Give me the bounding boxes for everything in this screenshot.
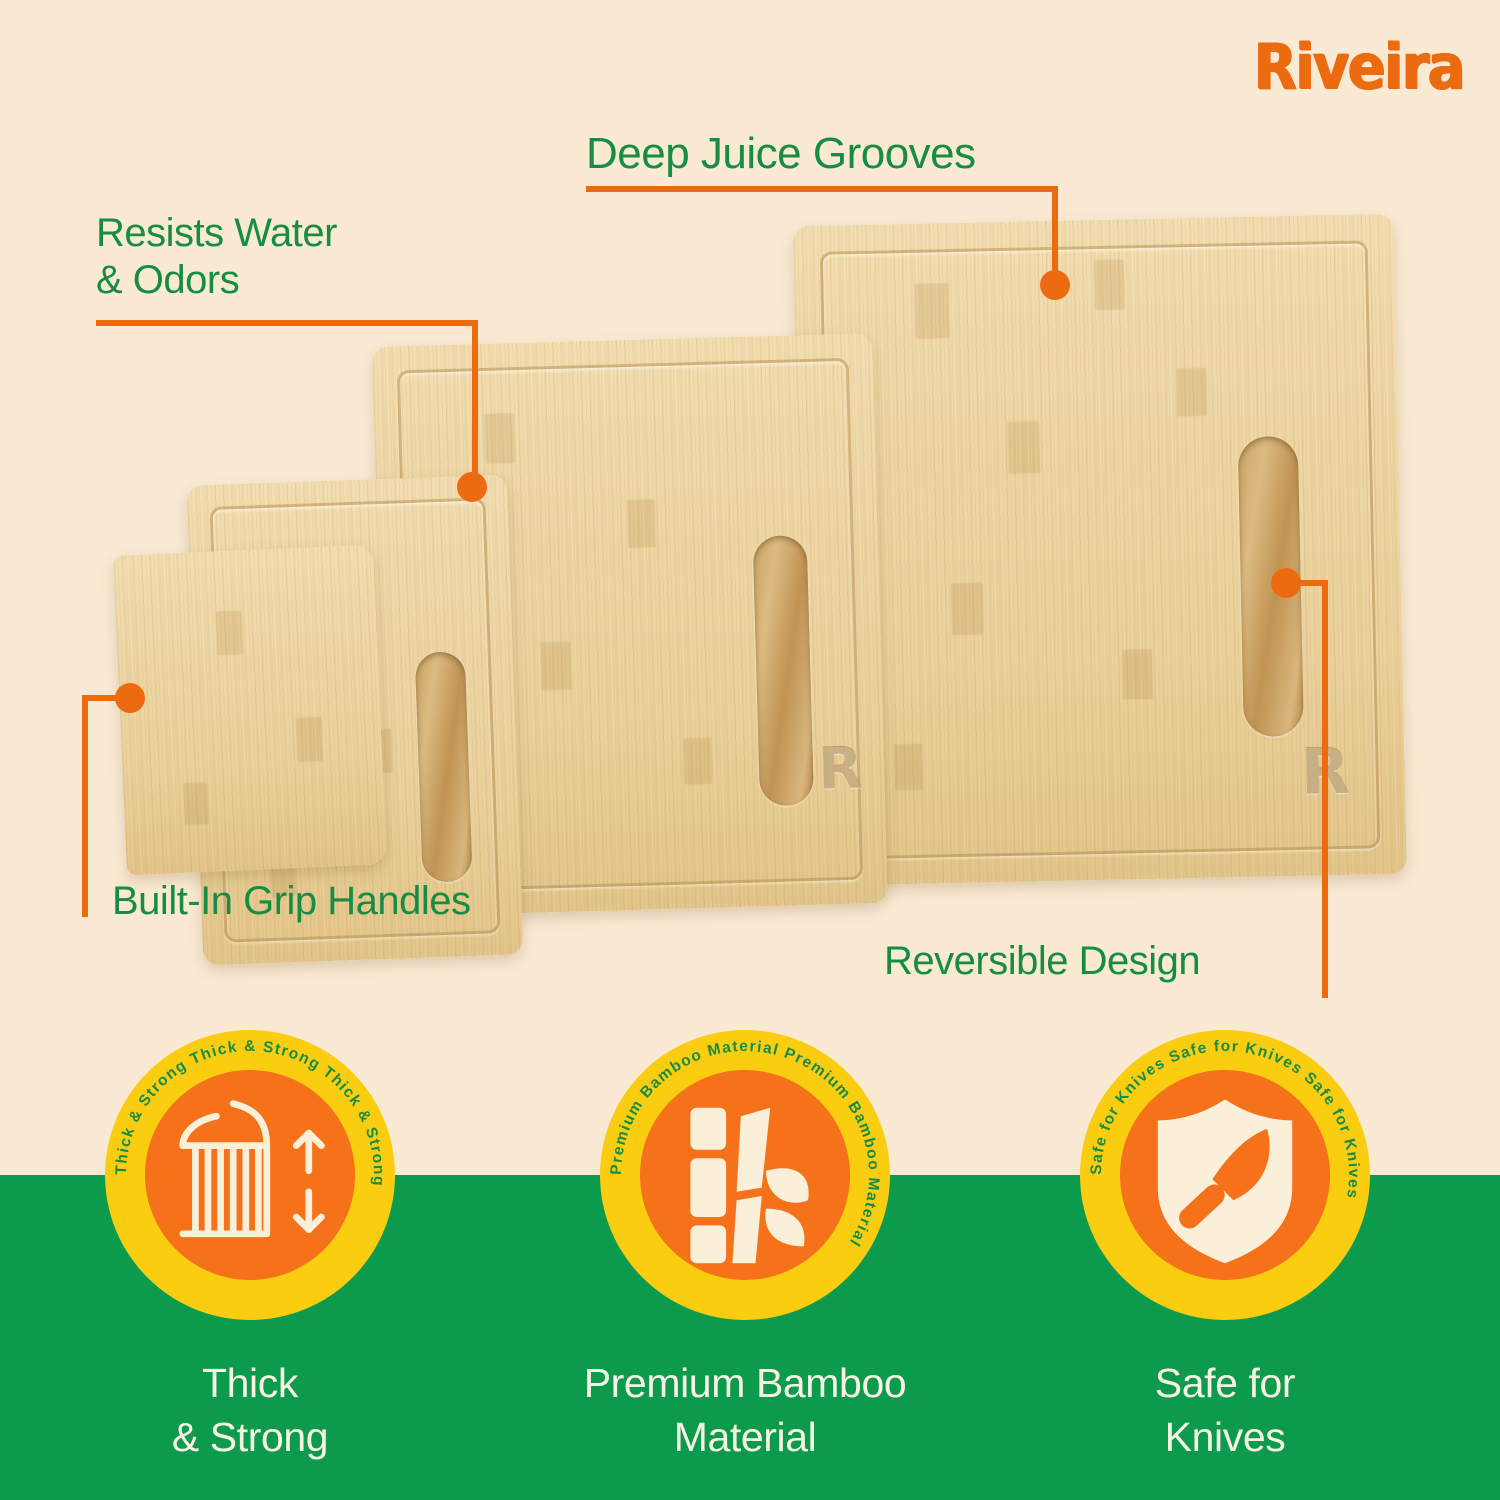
bamboo-node [1176, 368, 1207, 417]
bamboo-node [914, 283, 949, 339]
badge-medallion: Thick & Strong Thick & Strong Thick & St… [105, 1030, 395, 1320]
callout-label-resists-water-odors: Resists Water & Odors [96, 210, 337, 304]
badge-safe-for-knives: Safe for Knives Safe for Knives Safe for… [1015, 1030, 1435, 1464]
board-thickness-icon [145, 1070, 355, 1280]
callout-connector-reversible-design-vertical [1322, 580, 1328, 998]
cutting-board-mini [113, 544, 387, 875]
callout-underline-deep-juice-grooves [586, 186, 1058, 192]
callout-connector-built-in-grip-handles-vertical [82, 695, 88, 917]
bamboo-node [540, 642, 571, 691]
badge-medallion: Premium Bamboo Material Premium Bamboo M… [600, 1030, 890, 1320]
bamboo-node [1122, 649, 1153, 700]
badge-medallion: Safe for Knives Safe for Knives Safe for… [1080, 1030, 1370, 1320]
bamboo-node [216, 610, 244, 655]
bamboo-node [951, 582, 984, 635]
feature-badges-row: Thick & Strong Thick & Strong Thick & St… [0, 1030, 1500, 1500]
bamboo-node [627, 499, 656, 548]
callout-connector-built-in-grip-handles-horizontal [82, 695, 130, 701]
grip-handle-medium [753, 535, 815, 806]
callout-underline-resists-water-odors [96, 320, 478, 326]
callout-label-reversible-design: Reversible Design [884, 938, 1200, 985]
brand-logo: Riveira [1254, 30, 1464, 103]
callout-label-deep-juice-grooves: Deep Juice Grooves [586, 128, 976, 180]
callout-label-built-in-grip-handles: Built-In Grip Handles [112, 878, 471, 925]
bamboo-node [683, 738, 712, 785]
badge-label-safe-for-knives: Safe for Knives [1015, 1356, 1435, 1464]
badge-thick-and-strong: Thick & Strong Thick & Strong Thick & St… [40, 1030, 460, 1464]
cutting-board-large: R [793, 214, 1407, 886]
bamboo-node [1007, 421, 1040, 474]
badge-premium-bamboo-material: Premium Bamboo Material Premium Bamboo M… [535, 1030, 955, 1464]
grip-handle-small [415, 651, 473, 883]
bamboo-node [183, 782, 209, 825]
bamboo-node [484, 413, 515, 464]
engraved-brand-mark: R [817, 734, 864, 803]
badge-label-thick-and-strong: Thick & Strong [40, 1356, 460, 1464]
bamboo-node [1094, 259, 1125, 310]
bamboo-stalk-icon [640, 1070, 850, 1280]
infographic-canvas: Riveira R R [0, 0, 1500, 1500]
shield-knife-icon [1120, 1070, 1330, 1280]
callout-connector-resists-water-odors [472, 320, 478, 492]
callout-dot-deep-juice-grooves [1040, 270, 1070, 300]
callout-dot-resists-water-odors [457, 472, 487, 502]
badge-label-premium-bamboo-material: Premium Bamboo Material [535, 1356, 955, 1464]
bamboo-node [295, 717, 323, 762]
bamboo-node [894, 744, 923, 791]
